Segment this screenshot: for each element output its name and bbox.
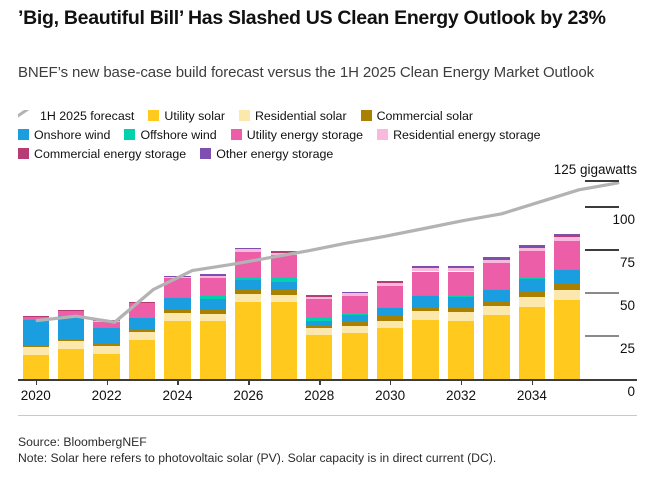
bar-2026[interactable]: [235, 248, 261, 379]
bar-segment: [519, 247, 545, 248]
bar-segment: [306, 321, 332, 326]
bar-segment: [306, 296, 332, 299]
bar-segment: [342, 326, 368, 333]
bar-segment: [412, 295, 438, 296]
bar-segment: [377, 308, 403, 317]
legend-commercial-energy-storage[interactable]: Commercial energy storage: [18, 146, 186, 163]
bar-segment: [377, 286, 403, 307]
bar-segment: [306, 328, 332, 335]
legend-item-label: Offshore wind: [140, 127, 216, 144]
legend-swatch-icon: [148, 110, 159, 121]
bar-segment: [412, 307, 438, 311]
bar-segment: [448, 312, 474, 321]
bar-segment: [377, 307, 403, 308]
bar-segment: [164, 313, 190, 322]
x-axis-tick: [36, 380, 37, 385]
bar-segment: [519, 292, 545, 297]
bar-segment: [377, 281, 403, 282]
bar-segment: [58, 311, 84, 316]
bar-segment: [93, 321, 119, 322]
legend-utility-energy-storage[interactable]: Utility energy storage: [231, 127, 363, 144]
y-axis-tick-label: 50: [620, 299, 635, 312]
bar-segment: [235, 280, 261, 289]
bar-segment: [519, 279, 545, 292]
bar-segment: [235, 248, 261, 249]
bar-segment: [23, 345, 49, 348]
bar-segment: [93, 344, 119, 347]
bar-segment: [58, 339, 84, 342]
legend-item-label: 1H 2025 forecast: [40, 108, 134, 125]
bar-segment: [448, 308, 474, 312]
bar-segment: [23, 355, 49, 379]
bar-2028[interactable]: [306, 295, 332, 379]
bar-segment: [554, 290, 580, 300]
bar-2024[interactable]: [164, 276, 190, 379]
bar-segment: [554, 241, 580, 269]
bar-segment: [23, 316, 49, 317]
bar-segment: [271, 253, 297, 256]
bar-segment: [554, 236, 580, 237]
bar-segment: [377, 316, 403, 320]
legend-item-label: Residential solar: [255, 108, 347, 125]
bar-segment: [483, 289, 509, 290]
bar-segment: [93, 321, 119, 328]
x-axis-tick: [390, 380, 391, 385]
legend-item-label: Commercial energy storage: [34, 146, 186, 163]
bar-segment: [164, 297, 190, 298]
bar-segment: [129, 329, 155, 332]
page-title: ’Big, Beautiful Bill’ Has Slashed US Cle…: [18, 6, 630, 31]
bar-segment: [200, 274, 226, 275]
x-axis-tick-label: 2030: [375, 388, 405, 403]
x-axis-tick-label: 2022: [92, 388, 122, 403]
plot-inner: [18, 176, 585, 386]
legend-swatch-icon: [18, 148, 29, 159]
bar-segment: [93, 354, 119, 379]
bar-segment: [342, 296, 368, 314]
bar-2029[interactable]: [342, 292, 368, 379]
bar-segment: [412, 320, 438, 379]
bar-segment: [200, 310, 226, 313]
y-axis-labels: 1007550250: [585, 176, 637, 386]
bar-segment: [342, 293, 368, 296]
x-axis-tick-label: 2024: [162, 388, 192, 403]
legend-swatch-icon: [377, 129, 388, 140]
legend-residential-energy-storage[interactable]: Residential energy storage: [377, 127, 540, 144]
bar-segment: [129, 302, 155, 303]
legend-item-label: Residential energy storage: [393, 127, 540, 144]
bar-2027[interactable]: [271, 251, 297, 379]
y-axis-tick-label: 75: [620, 256, 635, 269]
bar-segment: [377, 283, 403, 286]
bar-segment: [554, 270, 580, 285]
bar-segment: [93, 320, 119, 321]
footer-note: Note: Solar here refers to photovoltaic …: [18, 450, 637, 466]
bar-segment: [448, 267, 474, 268]
bar-segment: [483, 290, 509, 302]
bar-2030[interactable]: [377, 281, 403, 379]
bar-segment: [342, 322, 368, 325]
legend-other-energy-storage[interactable]: Other energy storage: [200, 146, 333, 163]
x-axis-labels: 20202022202420262028203020322034: [18, 388, 637, 408]
legend-swatch-icon: [200, 148, 211, 159]
bar-segment: [129, 340, 155, 379]
legend-commercial-solar[interactable]: Commercial solar: [361, 108, 473, 125]
bar-segment: [448, 321, 474, 379]
bar-segment: [306, 326, 332, 329]
y-gridline-top: [585, 180, 619, 182]
bar-segment: [554, 269, 580, 270]
bar-segment: [235, 249, 261, 252]
bar-segment: [448, 266, 474, 267]
bar-segment: [306, 318, 332, 321]
bar-segment: [519, 245, 545, 247]
bar-segment: [164, 321, 190, 379]
bar-segment: [377, 321, 403, 329]
bar-2035[interactable]: [554, 234, 580, 379]
bar-series-container: [18, 176, 585, 379]
bar-segment: [448, 296, 474, 307]
legend-item-label: Onshore wind: [34, 127, 110, 144]
bar-segment: [448, 272, 474, 296]
bar-segment: [235, 277, 261, 280]
bar-segment: [271, 295, 297, 303]
bar-segment: [129, 332, 155, 341]
bar-segment: [519, 251, 545, 279]
bar-segment: [58, 341, 84, 349]
bar-segment: [23, 347, 49, 355]
bar-segment: [377, 328, 403, 379]
bar-segment: [412, 268, 438, 271]
x-axis-tick: [319, 380, 320, 385]
bar-segment: [271, 302, 297, 379]
bar-segment: [412, 311, 438, 320]
bar-segment: [483, 263, 509, 289]
y-gridline: [585, 292, 619, 294]
x-axis-tick-label: 2028: [304, 388, 334, 403]
page-subtitle: BNEF’s new base-case build forecast vers…: [18, 62, 618, 83]
bar-segment: [412, 266, 438, 267]
legend-row: Onshore windOffshore windUtility energy …: [18, 127, 648, 144]
legend-item-label: Commercial solar: [377, 108, 473, 125]
bar-segment: [129, 303, 155, 318]
bar-segment: [271, 282, 297, 291]
legend-item-label: Utility energy storage: [247, 127, 363, 144]
x-axis-tick-label: 2034: [517, 388, 547, 403]
bar-segment: [483, 302, 509, 306]
x-axis-tick: [248, 380, 249, 385]
bar-segment: [342, 314, 368, 315]
bar-segment: [483, 315, 509, 380]
bar-segment: [306, 299, 332, 318]
legend-onshore-wind[interactable]: Onshore wind: [18, 127, 110, 144]
bar-segment: [164, 309, 190, 312]
y-gridline: [585, 206, 619, 208]
chart-legend: 1H 2025 forecastUtility solarResidential…: [18, 108, 648, 165]
bar-segment: [235, 252, 261, 277]
chart-page: ’Big, Beautiful Bill’ Has Slashed US Cle…: [0, 0, 655, 478]
legend-offshore-wind[interactable]: Offshore wind: [124, 127, 216, 144]
y-axis-tick-label: 25: [620, 342, 635, 355]
bar-segment: [448, 268, 474, 271]
legend-row: Commercial energy storageOther energy st…: [18, 146, 648, 163]
bar-segment: [306, 335, 332, 379]
x-axis-tick-label: 2026: [233, 388, 263, 403]
bar-2023[interactable]: [129, 302, 155, 379]
bar-segment: [164, 277, 190, 278]
bar-segment: [342, 333, 368, 379]
bar-segment: [554, 237, 580, 240]
bar-segment: [342, 315, 368, 323]
x-axis-tick-label: 2020: [21, 388, 51, 403]
footer-divider: [18, 415, 637, 416]
legend-swatch-icon: [124, 129, 135, 140]
x-axis-tick: [461, 380, 462, 385]
bar-segment: [235, 302, 261, 379]
bar-segment: [483, 259, 509, 262]
bar-segment: [129, 302, 155, 303]
legend-swatch-icon: [239, 110, 250, 121]
legend-utility-solar[interactable]: Utility solar: [148, 108, 225, 125]
bar-segment: [483, 259, 509, 260]
bar-2025[interactable]: [200, 275, 226, 379]
bar-segment: [129, 318, 155, 329]
bar-segment: [164, 276, 190, 277]
legend-1h-2025-forecast[interactable]: 1H 2025 forecast: [18, 108, 134, 125]
y-gridline: [585, 335, 619, 337]
x-axis-tick: [177, 380, 178, 385]
bar-segment: [200, 314, 226, 322]
bar-segment: [554, 284, 580, 289]
bar-segment: [58, 310, 84, 311]
bar-2034[interactable]: [519, 245, 545, 379]
bar-segment: [271, 255, 297, 278]
bar-segment: [412, 267, 438, 268]
legend-item-label: Utility solar: [164, 108, 225, 125]
bar-segment: [235, 290, 261, 294]
bar-2020[interactable]: [23, 316, 49, 379]
bar-segment: [519, 307, 545, 379]
y-axis-unit-label: 125 gigawatts: [554, 162, 637, 177]
bar-segment: [412, 296, 438, 307]
x-axis-tick-label: 2032: [446, 388, 476, 403]
bar-segment: [271, 278, 297, 281]
bar-2033[interactable]: [483, 257, 509, 379]
bar-segment: [412, 272, 438, 295]
legend-swatch-icon: [231, 129, 242, 140]
bar-segment: [235, 294, 261, 302]
bar-segment: [58, 316, 84, 338]
bar-segment: [342, 292, 368, 293]
chart-footer: Source: BloombergNEF Note: Solar here re…: [18, 434, 637, 466]
bar-segment: [164, 298, 190, 309]
bar-segment: [306, 295, 332, 296]
chart-plot-area: 125 gigawatts 1007550250 202020222024202…: [18, 176, 637, 386]
bar-segment: [93, 328, 119, 343]
bar-segment: [200, 276, 226, 278]
y-gridline: [585, 249, 619, 251]
y-axis-tick-label: 100: [612, 213, 635, 226]
bar-2032[interactable]: [448, 266, 474, 379]
bar-segment: [200, 299, 226, 310]
bar-segment: [200, 321, 226, 379]
bar-segment: [519, 297, 545, 306]
x-axis-tick: [532, 380, 533, 385]
bar-segment: [519, 278, 545, 279]
bar-segment: [519, 247, 545, 250]
legend-residential-solar[interactable]: Residential solar: [239, 108, 347, 125]
legend-swatch-icon: [18, 129, 29, 140]
x-axis-tick: [107, 380, 108, 385]
bar-segment: [271, 251, 297, 252]
bar-segment: [200, 278, 226, 297]
bar-segment: [554, 234, 580, 237]
bar-segment: [23, 320, 49, 345]
bar-2031[interactable]: [412, 266, 438, 379]
legend-swatch-icon: [361, 110, 372, 121]
legend-row: 1H 2025 forecastUtility solarResidential…: [18, 108, 648, 125]
bar-segment: [554, 300, 580, 379]
footer-source: Source: BloombergNEF: [18, 434, 637, 450]
bar-segment: [483, 257, 509, 259]
bar-segment: [164, 278, 190, 297]
bar-segment: [271, 290, 297, 294]
bar-segment: [200, 296, 226, 299]
bar-segment: [23, 317, 49, 320]
legend-item-label: Other energy storage: [216, 146, 333, 163]
forecast-line-icon: [18, 110, 35, 121]
bar-2022[interactable]: [93, 321, 119, 379]
bar-segment: [58, 349, 84, 379]
bar-segment: [93, 346, 119, 354]
x-axis-line: [18, 379, 637, 381]
bar-2021[interactable]: [58, 310, 84, 379]
bar-segment: [448, 296, 474, 297]
bar-segment: [483, 306, 509, 315]
